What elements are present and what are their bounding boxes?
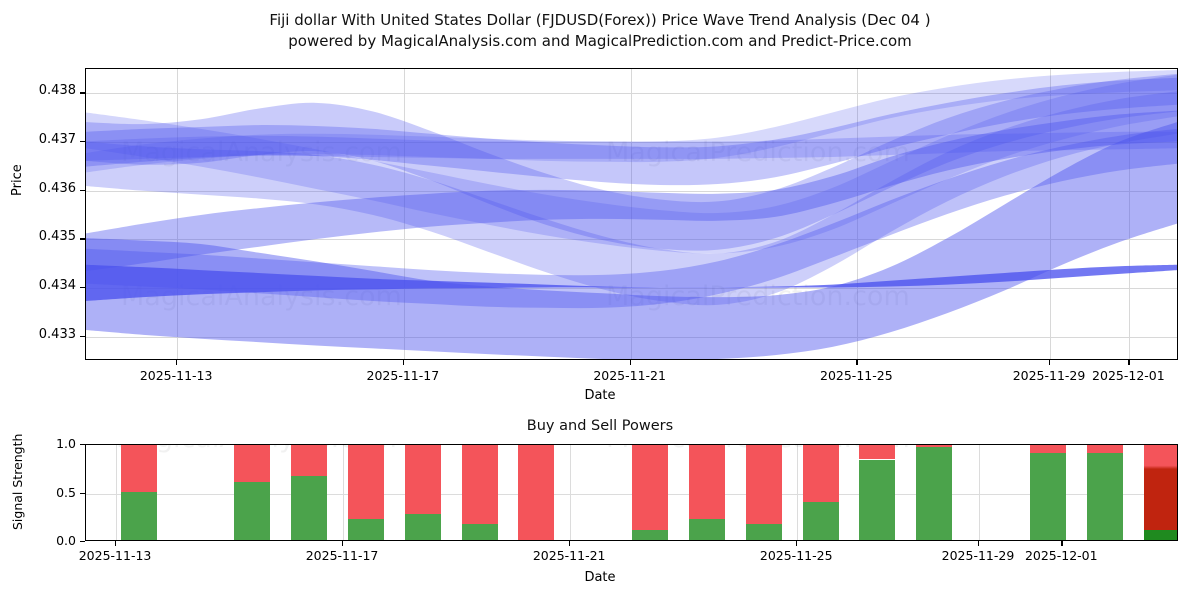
bar-stack[interactable]: [632, 444, 668, 540]
bar-buy-segment: [121, 492, 157, 541]
bar-x-tick-mark: [569, 541, 570, 546]
bar-buy-segment: [632, 530, 668, 540]
title-line-2: powered by MagicalAnalysis.com and Magic…: [0, 31, 1200, 52]
bar-stack[interactable]: [1144, 444, 1179, 540]
bar-sell-segment: [348, 444, 384, 519]
wave-x-tick-mark: [1128, 360, 1129, 365]
wave-x-tick-label: 2025-11-21: [585, 368, 675, 383]
bar-x-tick-label: 2025-11-17: [297, 548, 387, 563]
bar-stack[interactable]: [1087, 444, 1123, 540]
bar-x-tick-mark: [796, 541, 797, 546]
bar-x-tick-mark: [978, 541, 979, 546]
bar-x-tick-label: 2025-11-21: [524, 548, 614, 563]
wave-band-svg: [86, 69, 1177, 359]
wave-y-tick-label: 0.433: [18, 327, 76, 342]
bar-x-axis-label: Date: [0, 570, 1200, 585]
bar-buy-segment: [405, 514, 441, 540]
bar-sell-segment: [803, 444, 839, 502]
bar-stack[interactable]: [518, 444, 554, 540]
bar-y-tick-label: 0.5: [18, 485, 76, 500]
bar-x-tick-label: 2025-11-13: [70, 548, 160, 563]
bar-stack[interactable]: [859, 444, 895, 540]
wave-plot-area: MagicalAnalysis.comMagicalPrediction.com…: [85, 68, 1178, 360]
bar-stack[interactable]: [689, 444, 725, 540]
bar-chart-title: Buy and Sell Powers: [0, 418, 1200, 434]
chart-page: Fiji dollar With United States Dollar (F…: [0, 0, 1200, 600]
bar-gridline-v: [979, 445, 980, 540]
bar-sell-segment: [746, 444, 782, 524]
bar-y-tick-label: 1.0: [18, 436, 76, 451]
page-title: Fiji dollar With United States Dollar (F…: [0, 10, 1200, 52]
bar-stack[interactable]: [916, 444, 952, 540]
bar-x-tick-label: 2025-12-01: [1016, 548, 1106, 563]
bar-gridline-v: [570, 445, 571, 540]
bar-y-tick-label: 0.0: [18, 533, 76, 548]
wave-x-tick-mark: [630, 360, 631, 365]
bar-x-tick-label: 2025-11-29: [933, 548, 1023, 563]
bar-plot-area: MagicalAnalysis.comMagicalPrediction.com: [85, 444, 1178, 541]
wave-x-tick-label: 2025-12-01: [1083, 368, 1173, 383]
bar-stack[interactable]: [803, 444, 839, 540]
bar-buy-segment: [689, 519, 725, 540]
bar-sell-segment: [1087, 444, 1123, 453]
bar-buy-segment: [746, 524, 782, 540]
wave-y-tick-label: 0.436: [18, 181, 76, 196]
wave-x-tick-label: 2025-11-17: [358, 368, 448, 383]
bar-x-tick-mark: [342, 541, 343, 546]
bar-buy-segment: [234, 482, 270, 540]
bar-x-tick-mark: [1061, 541, 1062, 546]
wave-x-tick-label: 2025-11-13: [131, 368, 221, 383]
bar-y-tick-mark: [80, 541, 85, 542]
wave-y-tick-label: 0.435: [18, 229, 76, 244]
bar-sell-segment: [632, 444, 668, 530]
bar-x-tick-label: 2025-11-25: [751, 548, 841, 563]
bar-stack[interactable]: [121, 444, 157, 540]
wave-x-tick-label: 2025-11-25: [811, 368, 901, 383]
bar-buy-segment: [1087, 453, 1123, 540]
bar-stack[interactable]: [1030, 444, 1066, 540]
bar-x-tick-mark: [115, 541, 116, 546]
wave-y-tick-label: 0.437: [18, 132, 76, 147]
bar-stack[interactable]: [462, 444, 498, 540]
bar-buy-segment: [291, 476, 327, 540]
wave-y-tick-label: 0.434: [18, 278, 76, 293]
bar-buy-segment: [803, 502, 839, 540]
wave-x-tick-mark: [856, 360, 857, 365]
title-line-1: Fiji dollar With United States Dollar (F…: [0, 10, 1200, 31]
bar-stack[interactable]: [746, 444, 782, 540]
bar-gridline-v: [797, 445, 798, 540]
bar-buy-segment: [462, 524, 498, 540]
wave-x-tick-mark: [1049, 360, 1050, 365]
bar-stack[interactable]: [348, 444, 384, 540]
bar-buy-segment: [1030, 453, 1066, 540]
bar-sell-segment: [405, 444, 441, 514]
wave-x-axis-label: Date: [0, 388, 1200, 403]
bar-sell-segment: [121, 444, 157, 492]
bar-sell-segment: [462, 444, 498, 524]
bar-sell-segment: [518, 444, 554, 540]
bar-buy-segment: [916, 447, 952, 540]
bar-sell-segment: [234, 444, 270, 482]
bar-gridline-v: [116, 445, 117, 540]
wave-x-tick-mark: [176, 360, 177, 365]
wave-y-tick-label: 0.438: [18, 83, 76, 98]
bar-stack[interactable]: [405, 444, 441, 540]
bar-sell-segment: [1030, 444, 1066, 453]
wave-x-tick-mark: [403, 360, 404, 365]
bar-sell-segment: [859, 444, 895, 459]
wave-x-tick-label: 2025-11-29: [1004, 368, 1094, 383]
bar-buy-segment: [1144, 530, 1179, 540]
bar-sell-segment: [1144, 444, 1179, 530]
bar-gridline-v: [343, 445, 344, 540]
bar-buy-segment: [859, 460, 895, 541]
bar-sell-segment: [689, 444, 725, 519]
bar-stack[interactable]: [291, 444, 327, 540]
bar-sell-segment: [291, 444, 327, 476]
bar-stack[interactable]: [234, 444, 270, 540]
bar-buy-segment: [348, 519, 384, 540]
